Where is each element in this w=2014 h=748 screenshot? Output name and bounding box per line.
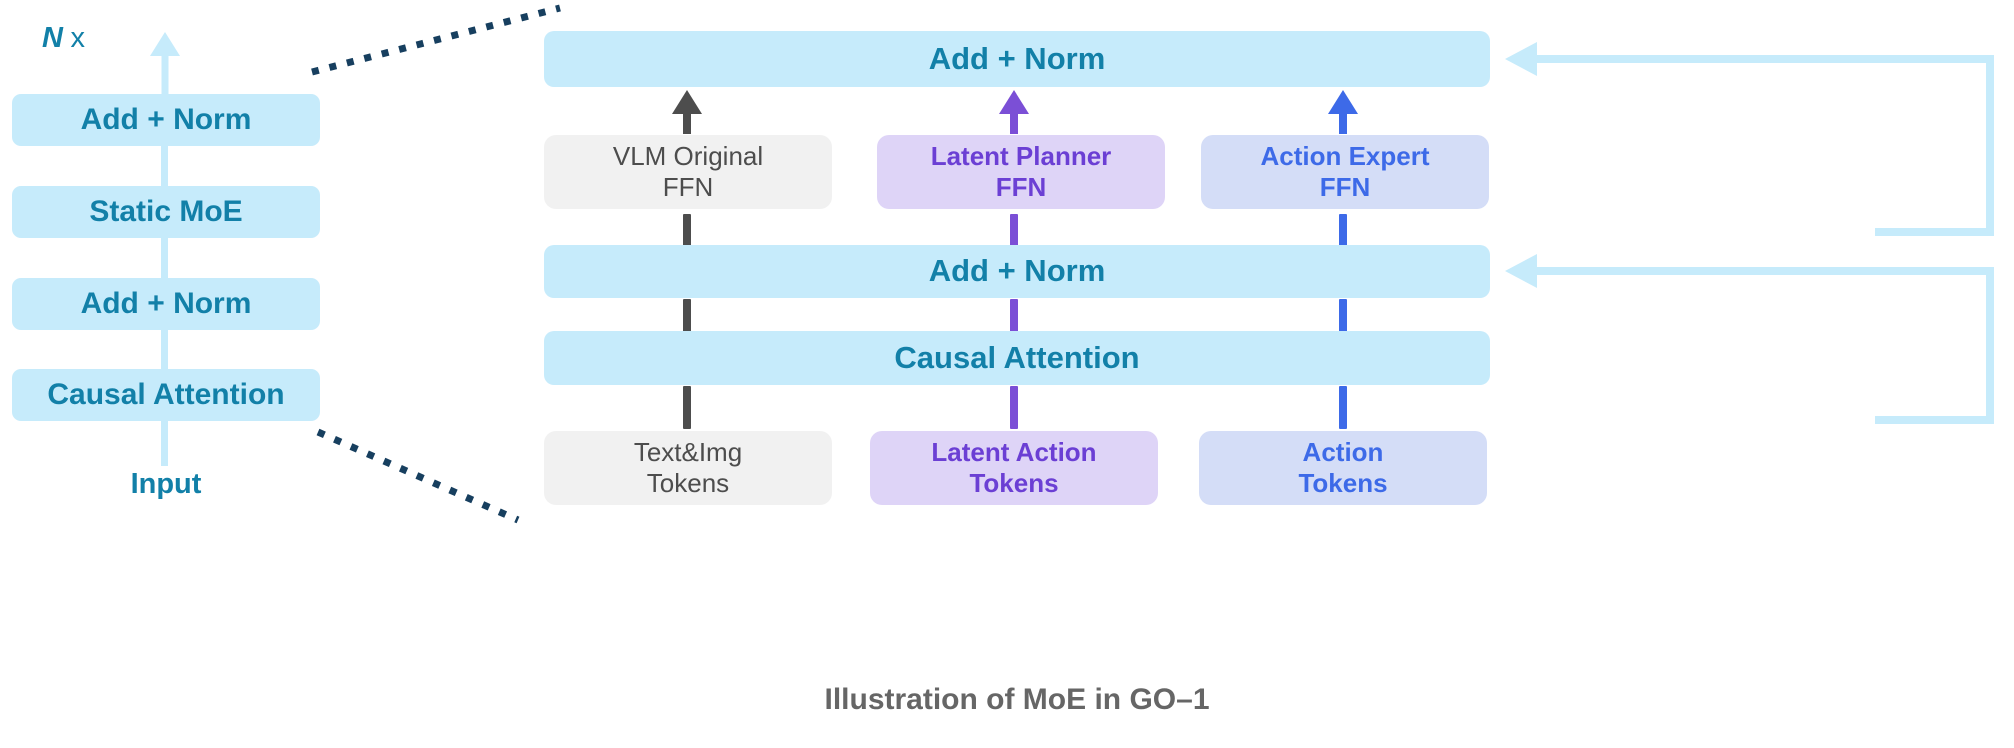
dotted-connector-bottom [318,432,518,520]
right-ffn-action-expert[interactable]: Action Expert FFN [1201,135,1489,209]
left-connector-4 [161,418,168,466]
dotted-connector-top [312,8,560,72]
right-causal-attention[interactable]: Causal Attention [544,331,1490,385]
right-add-norm-mid[interactable]: Add + Norm [544,245,1490,298]
right-ffn-vlm-original[interactable]: VLM Original FFN [544,135,832,209]
right-token-action[interactable]: Action Tokens [1199,431,1487,505]
connector-action-tokens-to-attn [1339,386,1347,429]
connector-text-img-tokens-to-attn [683,386,691,429]
left-connector-2 [161,234,168,284]
vlm-ffn-output-arrow [672,90,702,114]
left-block-static-moe[interactable]: Static MoE [12,186,320,238]
left-block-causal-attention[interactable]: Causal Attention [12,369,320,421]
right-token-text-img[interactable]: Text&Img Tokens [544,431,832,505]
left-block-add-norm-top[interactable]: Add + Norm [12,94,320,146]
figure-caption: Illustration of MoE in GO–1 [544,683,1490,717]
input-label: Input [12,468,320,501]
connector-addnorm-to-attn-action [1339,299,1347,332]
connector-addnorm-to-attn-vlm [683,299,691,332]
repeat-count-n: N [42,22,63,54]
right-ffn-latent-planner[interactable]: Latent Planner FFN [877,135,1165,209]
repeat-count-label: Nx [42,22,85,55]
residual-path-upper [1523,59,1990,232]
residual-arrowhead-lower [1505,254,1537,288]
residual-path-lower [1523,271,1990,420]
latent-planner-output-arrow [999,90,1029,114]
connector-latent-action-tokens-to-attn [1010,386,1018,429]
moe-illustration-figure: Nx Add + Norm Static MoE Add + Norm Caus… [0,0,2014,748]
connector-addnorm-to-attn-planner [1010,299,1018,332]
right-add-norm-top[interactable]: Add + Norm [544,31,1490,87]
action-expert-output-arrow [1328,90,1358,114]
residual-arrowhead-upper [1505,42,1537,76]
left-block-add-norm-bottom[interactable]: Add + Norm [12,278,320,330]
right-token-latent-action[interactable]: Latent Action Tokens [870,431,1158,505]
repeat-count-x: x [70,22,85,54]
left-connector-1 [161,142,168,192]
